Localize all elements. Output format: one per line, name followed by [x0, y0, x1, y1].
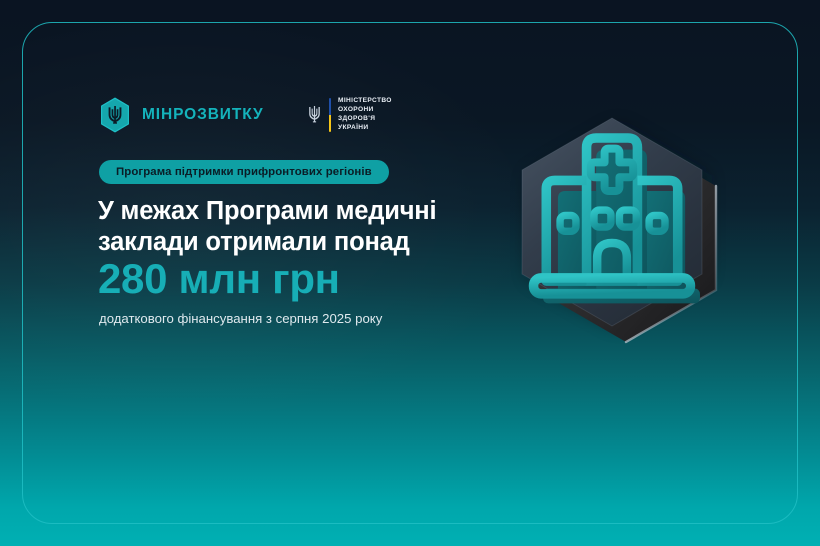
ministry-of-health-logo: МІНІСТЕРСТВО ОХОРОНИ ЗДОРОВ'Я УКРАЇНИ — [307, 97, 392, 132]
subline-text: додаткового фінансування з серпня 2025 р… — [99, 311, 382, 327]
ministry-of-development-wordmark: МІНРОЗВИТКУ — [142, 107, 264, 123]
program-badge: Програма підтримки прифронтових регіонів — [99, 160, 389, 184]
logo-row: МІНРОЗВИТКУ МІНІСТЕРСТВО ОХ — [99, 97, 392, 133]
moz-line-1: МІНІСТЕРСТВО — [338, 97, 392, 105]
ministry-of-development-logo: МІНРОЗВИТКУ — [99, 97, 264, 133]
ukraine-flag-bar — [329, 98, 332, 132]
moz-line-4: УКРАЇНИ — [338, 124, 392, 132]
trident-hexagon-icon — [99, 97, 131, 133]
trident-icon — [307, 104, 322, 126]
infographic-canvas: МІНРОЗВИТКУ МІНІСТЕРСТВО ОХ — [0, 0, 820, 546]
highlight-amount: 280 млн грн — [98, 258, 340, 300]
hexagon-badge — [470, 78, 750, 358]
moz-line-3: ЗДОРОВ'Я — [338, 115, 392, 123]
ministry-of-health-lines: МІНІСТЕРСТВО ОХОРОНИ ЗДОРОВ'Я УКРАЇНИ — [338, 97, 392, 132]
moz-line-2: ОХОРОНИ — [338, 106, 392, 114]
headline-text: У межах Програми медичні заклади отримал… — [98, 196, 498, 258]
